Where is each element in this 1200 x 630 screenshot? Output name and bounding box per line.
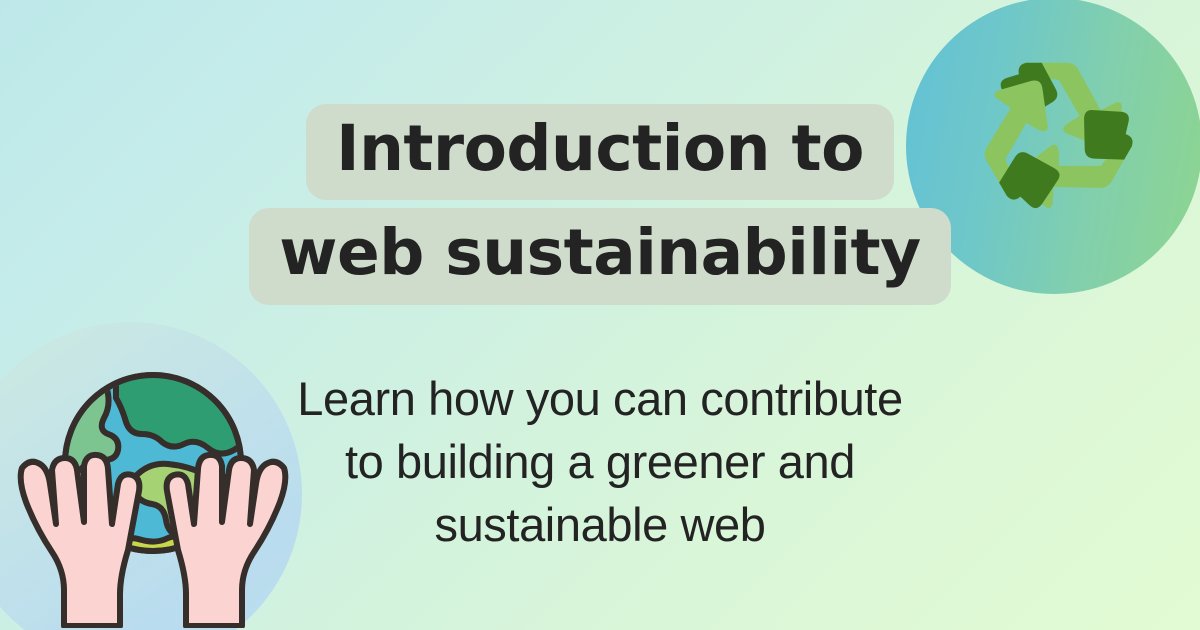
title-highlight-chip-1: Introduction to	[306, 104, 894, 200]
subtitle-line-3: sustainable web	[280, 494, 920, 557]
page-subtitle: Learn how you can contribute to building…	[280, 368, 920, 557]
title-highlight-chip-2: web sustainability	[249, 208, 950, 304]
title-line-2: web sustainability	[0, 208, 1200, 304]
page-title: Introduction to web sustainability	[0, 104, 1200, 305]
title-line-1: Introduction to	[0, 104, 1200, 200]
content-area: Introduction to web sustainability Learn…	[0, 0, 1200, 630]
subtitle-line-1: Learn how you can contribute	[280, 368, 920, 431]
subtitle-line-2: to building a greener and	[280, 431, 920, 494]
banner-root: Introduction to web sustainability Learn…	[0, 0, 1200, 630]
